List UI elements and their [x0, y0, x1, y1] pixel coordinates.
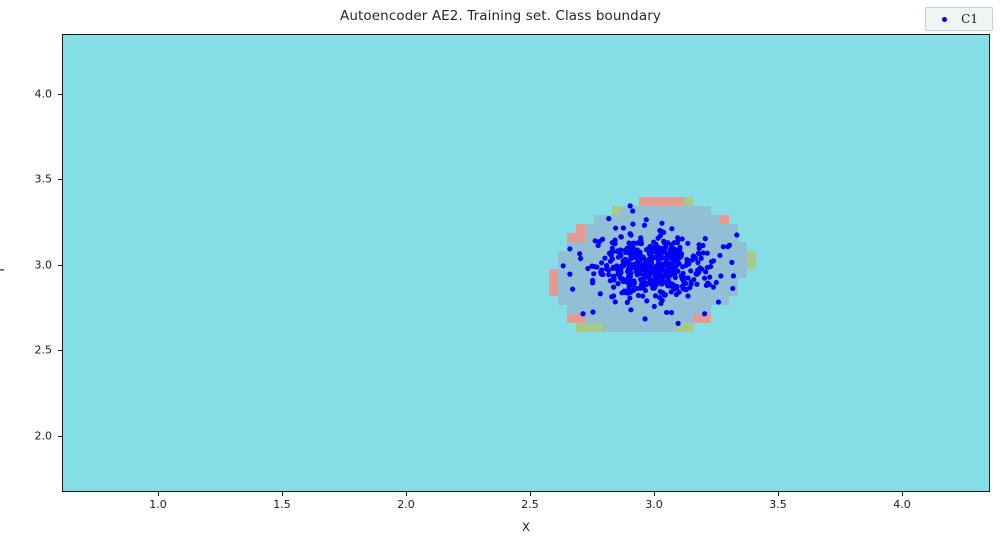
data-point — [666, 278, 671, 283]
data-point — [580, 311, 585, 316]
data-point — [679, 251, 684, 256]
data-point — [618, 264, 623, 269]
data-point — [711, 285, 716, 290]
data-point — [621, 225, 626, 230]
data-point — [672, 247, 677, 252]
data-point — [592, 264, 597, 269]
data-point — [593, 238, 598, 243]
data-point — [658, 301, 663, 306]
data-point — [657, 273, 662, 278]
data-point — [591, 271, 596, 276]
data-point — [730, 286, 735, 291]
data-point — [618, 270, 623, 275]
data-point — [689, 279, 694, 284]
x-axis-tick-label: 4.0 — [893, 498, 911, 511]
data-point — [608, 278, 613, 283]
data-point — [599, 260, 604, 265]
data-point — [717, 253, 722, 258]
data-point — [699, 256, 704, 261]
scatter-points-layer — [63, 35, 990, 492]
x-axis-tick-label: 2.0 — [397, 498, 415, 511]
data-point — [611, 265, 616, 270]
x-axis-tick — [654, 492, 655, 496]
data-point — [651, 279, 656, 284]
data-point — [664, 310, 669, 315]
data-point — [590, 278, 595, 283]
data-point — [707, 274, 712, 279]
x-axis-tick-label: 3.0 — [645, 498, 663, 511]
data-point — [628, 203, 633, 208]
data-point — [659, 221, 664, 226]
data-point — [709, 259, 714, 264]
x-axis-tick — [530, 492, 531, 496]
data-point — [695, 269, 700, 274]
data-point — [637, 251, 642, 256]
data-point — [660, 290, 665, 295]
data-point — [585, 266, 590, 271]
data-point — [623, 290, 628, 295]
y-axis-tick-label: 3.0 — [35, 258, 53, 271]
data-point — [729, 260, 734, 265]
data-point — [695, 260, 700, 265]
data-point — [700, 243, 705, 248]
data-point — [625, 300, 630, 305]
data-point — [685, 241, 690, 246]
data-point — [627, 231, 632, 236]
data-point — [615, 281, 620, 286]
data-point — [628, 307, 633, 312]
data-point — [642, 268, 647, 273]
data-point — [628, 250, 633, 255]
data-point — [669, 289, 674, 294]
data-point — [684, 257, 689, 262]
data-point — [685, 293, 690, 298]
y-axis-tick-label: 3.5 — [35, 173, 53, 186]
data-point — [688, 268, 693, 273]
data-point — [716, 299, 721, 304]
data-point — [680, 236, 685, 241]
data-point — [680, 271, 685, 276]
series-c1-points — [561, 203, 740, 326]
data-point — [570, 287, 575, 292]
y-axis-tick-label: 4.0 — [35, 87, 53, 100]
data-point — [561, 263, 566, 268]
data-point — [640, 293, 645, 298]
data-point — [681, 286, 686, 291]
data-point — [647, 256, 652, 261]
x-axis-tick — [902, 492, 903, 496]
data-point — [636, 293, 641, 298]
y-axis-tick — [58, 436, 62, 437]
data-point — [644, 298, 649, 303]
data-point — [611, 285, 616, 290]
y-axis-tick-label: 2.5 — [35, 344, 53, 357]
data-point — [606, 268, 611, 273]
data-point — [615, 249, 620, 254]
data-point — [599, 272, 604, 277]
figure-canvas: Autoencoder AE2. Training set. Class bou… — [0, 0, 1001, 547]
data-point — [721, 244, 726, 249]
data-point — [655, 236, 660, 241]
data-point — [675, 235, 680, 240]
legend-box[interactable]: C1 — [925, 7, 993, 31]
data-point — [647, 273, 652, 278]
data-point — [714, 280, 719, 285]
data-point — [618, 234, 623, 239]
data-point — [660, 250, 665, 255]
data-point — [622, 248, 627, 253]
x-axis-label: X — [62, 520, 990, 534]
data-point — [674, 286, 679, 291]
x-axis-tick — [158, 492, 159, 496]
x-axis-tick-label: 3.5 — [769, 498, 787, 511]
data-point — [606, 216, 611, 221]
x-axis-tick-label: 1.0 — [149, 498, 167, 511]
data-point — [641, 277, 646, 282]
data-point — [630, 208, 635, 213]
data-point — [677, 245, 682, 250]
y-axis-tick — [58, 179, 62, 180]
data-point — [642, 316, 647, 321]
data-point — [656, 268, 661, 273]
data-point — [598, 291, 603, 296]
data-point — [628, 271, 633, 276]
plot-area — [62, 34, 990, 492]
data-point — [670, 282, 675, 287]
data-point — [600, 237, 605, 242]
data-point — [643, 288, 648, 293]
data-point — [657, 228, 662, 233]
data-point — [602, 256, 607, 261]
x-axis-tick — [778, 492, 779, 496]
data-point — [664, 251, 669, 256]
data-point — [727, 243, 732, 248]
x-axis-tick-label: 1.5 — [273, 498, 291, 511]
data-point — [671, 254, 676, 259]
data-point — [630, 221, 635, 226]
data-point — [650, 247, 655, 252]
data-point — [673, 275, 678, 280]
data-point — [667, 261, 672, 266]
data-point — [682, 280, 687, 285]
y-axis-tick — [58, 94, 62, 95]
data-point — [624, 277, 629, 282]
data-point — [675, 321, 680, 326]
data-point — [731, 273, 736, 278]
data-point — [652, 304, 657, 309]
data-point — [618, 253, 623, 258]
data-point — [676, 261, 681, 266]
data-point — [578, 256, 583, 261]
data-point — [703, 236, 708, 241]
data-point — [669, 226, 674, 231]
chart-title: Autoencoder AE2. Training set. Class bou… — [0, 8, 1001, 24]
data-point — [659, 281, 664, 286]
data-point — [567, 246, 572, 251]
data-point — [624, 258, 629, 263]
data-point — [596, 243, 601, 248]
y-axis-tick — [58, 265, 62, 266]
legend-label-c1: C1 — [961, 12, 978, 26]
data-point — [642, 223, 647, 228]
data-point — [628, 290, 633, 295]
legend-marker-c1-icon — [942, 17, 947, 22]
data-point — [694, 282, 699, 287]
data-point — [647, 264, 652, 269]
data-point — [567, 272, 572, 277]
x-axis-tick — [282, 492, 283, 496]
data-point — [635, 286, 640, 291]
data-point — [702, 276, 707, 281]
data-point — [718, 273, 723, 278]
y-axis-tick-label: 2.0 — [35, 430, 53, 443]
data-point — [663, 268, 668, 273]
data-point — [633, 261, 638, 266]
data-point — [653, 255, 658, 260]
data-point — [660, 262, 665, 267]
data-point — [577, 251, 582, 256]
data-point — [703, 269, 708, 274]
data-point — [613, 226, 618, 231]
y-axis-label: Y — [0, 266, 7, 273]
data-point — [669, 310, 674, 315]
data-point — [641, 284, 646, 289]
data-point — [702, 311, 707, 316]
data-point — [653, 293, 658, 298]
data-point — [609, 249, 614, 254]
data-point — [590, 309, 595, 314]
x-axis-tick — [406, 492, 407, 496]
data-point — [644, 217, 649, 222]
data-point — [612, 241, 617, 246]
data-point — [734, 232, 739, 237]
data-point — [632, 280, 637, 285]
data-point — [631, 241, 636, 246]
y-axis-tick — [58, 350, 62, 351]
data-point — [609, 294, 614, 299]
data-point — [705, 281, 710, 286]
data-point — [663, 244, 668, 249]
data-point — [608, 259, 613, 264]
x-axis-tick-label: 2.5 — [521, 498, 539, 511]
data-point — [672, 240, 677, 245]
data-point — [705, 251, 710, 256]
data-point — [613, 299, 618, 304]
data-point — [611, 274, 616, 279]
data-point — [636, 265, 641, 270]
data-point — [691, 254, 696, 259]
